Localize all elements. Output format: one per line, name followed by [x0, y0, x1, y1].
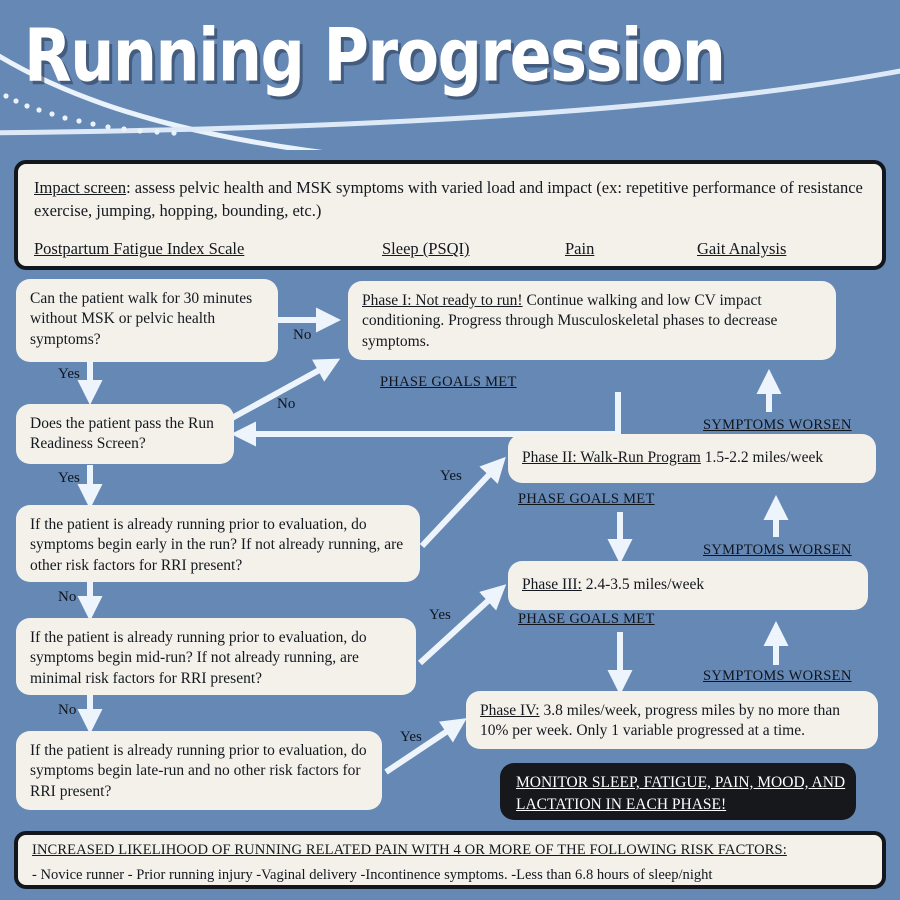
phase-1-box: Phase I: Not ready to run! Continue walk… [348, 281, 836, 360]
phase-2-box: Phase II: Walk-Run Program 1.5-2.2 miles… [508, 434, 876, 483]
question-text: Can the patient walk for 30 minutes with… [30, 290, 252, 348]
impact-screen-box: Impact screen: assess pelvic health and … [14, 160, 886, 270]
question-text: If the patient is already running prior … [30, 629, 367, 687]
impact-screen-body: : assess pelvic health and MSK symptoms … [34, 178, 863, 220]
impact-screen-text: Impact screen: assess pelvic health and … [34, 176, 866, 222]
arrow-q5-yes-to-phase4 [386, 722, 461, 772]
impact-measures-row: Postpartum Fatigue Index Scale Sleep (PS… [34, 238, 866, 260]
edge-label-q3-yes: Yes [440, 468, 462, 485]
question-text: Does the patient pass the Run Readiness … [30, 414, 220, 455]
question-box-symptoms-late-run: If the patient is already running prior … [16, 731, 382, 810]
edge-label-q2-no: No [277, 396, 295, 413]
impact-screen-lead: Impact screen [34, 178, 126, 197]
infographic-root: Running Progression [0, 0, 900, 900]
phase-4-box: Phase IV: 3.8 miles/week, progress miles… [466, 691, 878, 749]
header-banner: Running Progression [0, 0, 900, 150]
phase-3-label: Phase III: [522, 576, 582, 593]
edge-label-phase3-symptoms-worsen: SYMPTOMS WORSEN [703, 542, 852, 559]
measure-sleep-psqi: Sleep (PSQI) [382, 238, 565, 260]
risk-factors-heading: INCREASED LIKELIHOOD OF RUNNING RELATED … [32, 841, 843, 861]
edge-label-q4-yes: Yes [429, 607, 451, 624]
edge-label-q5-yes: Yes [400, 729, 422, 746]
measure-gait-analysis: Gait Analysis [697, 238, 786, 260]
question-text: If the patient is already running prior … [30, 516, 403, 574]
edge-label-q1-yes: Yes [58, 366, 80, 383]
measure-postpartum-fatigue-index-scale: Postpartum Fatigue Index Scale [34, 238, 382, 260]
edge-label-phase3-goals-met: PHASE GOALS MET [518, 611, 655, 628]
measure-pain: Pain [565, 238, 697, 260]
question-box-run-readiness-screen: Does the patient pass the Run Readiness … [16, 404, 234, 464]
edge-label-q4-no: No [58, 702, 76, 719]
phase-4-label: Phase IV: [480, 702, 540, 719]
edge-label-q2-yes: Yes [58, 470, 80, 487]
risk-factors-footer-box: INCREASED LIKELIHOOD OF RUNNING RELATED … [14, 831, 886, 889]
edge-label-phase4-symptoms-worsen: SYMPTOMS WORSEN [703, 668, 852, 685]
edge-label-phase2-goals-met: PHASE GOALS MET [518, 491, 655, 508]
monitor-line-2: LACTATION IN EACH PHASE! [516, 794, 840, 816]
phase-2-label: Phase II: Walk-Run Program [522, 449, 701, 466]
question-box-symptoms-early-run: If the patient is already running prior … [16, 505, 420, 582]
phase-3-body: 2.4-3.5 miles/week [582, 576, 704, 593]
monitor-box: MONITOR SLEEP, FATIGUE, PAIN, MOOD, AND … [500, 763, 856, 820]
question-box-symptoms-mid-run: If the patient is already running prior … [16, 618, 416, 695]
phase-2-body: 1.5-2.2 miles/week [701, 449, 823, 466]
monitor-line-1: MONITOR SLEEP, FATIGUE, PAIN, MOOD, AND [516, 772, 840, 794]
question-text: If the patient is already running prior … [30, 742, 367, 800]
edge-label-q1-no: No [293, 327, 311, 344]
arrow-q4-yes-to-phase3 [420, 589, 501, 663]
risk-factors-list: - Novice runner - Prior running injury -… [32, 866, 843, 886]
edge-label-q3-no: No [58, 589, 76, 606]
question-box-walk-30-minutes: Can the patient walk for 30 minutes with… [16, 279, 278, 362]
phase-1-label: Phase I: Not ready to run! [362, 292, 523, 309]
page-title: Running Progression [24, 12, 724, 98]
phase-3-box: Phase III: 2.4-3.5 miles/week [508, 561, 868, 610]
edge-label-phase2-symptoms-worsen: SYMPTOMS WORSEN [703, 417, 852, 434]
edge-label-phase1-goals-met: PHASE GOALS MET [380, 374, 517, 391]
